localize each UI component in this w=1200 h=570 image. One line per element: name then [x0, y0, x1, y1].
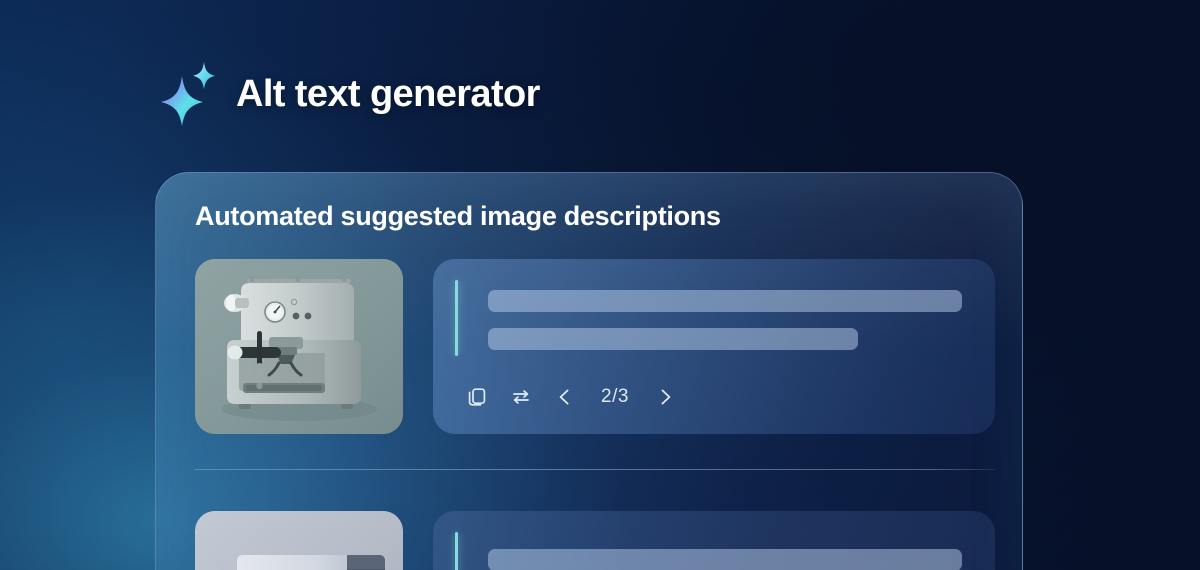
suggestion-row: [195, 511, 995, 570]
appliance-thumbnail[interactable]: [195, 511, 403, 570]
accent-bar: [455, 532, 458, 570]
regenerate-button[interactable]: [499, 379, 543, 415]
page-header: Alt text generator: [160, 62, 540, 126]
row-divider: [195, 469, 995, 470]
description-skeleton-line: [488, 549, 962, 570]
copy-button[interactable]: [455, 379, 499, 415]
suggestion-controls: 2/3: [455, 379, 687, 415]
previous-suggestion-button[interactable]: [543, 379, 587, 415]
suggestion-row: 2/3: [195, 259, 995, 434]
card-title: Automated suggested image descriptions: [195, 201, 721, 232]
description-skeleton-line: [488, 328, 858, 350]
suggestion-page-count: 2/3: [587, 386, 643, 408]
alt-text-card: Automated suggested image descriptions: [155, 172, 1023, 570]
chevron-right-icon: [654, 386, 676, 408]
sparkle-icon: [160, 62, 218, 126]
chevron-left-icon: [554, 386, 576, 408]
next-suggestion-button[interactable]: [643, 379, 687, 415]
swap-arrows-icon: [510, 386, 532, 408]
accent-bar: [455, 280, 458, 356]
page-title: Alt text generator: [236, 73, 540, 116]
copy-icon: [466, 386, 488, 408]
description-panel: 2/3: [433, 259, 995, 434]
espresso-machine-thumbnail[interactable]: [195, 259, 403, 434]
description-panel: [433, 511, 995, 570]
description-skeleton-line: [488, 290, 962, 312]
app-background: Alt text generator Automated suggested i…: [0, 0, 1200, 570]
